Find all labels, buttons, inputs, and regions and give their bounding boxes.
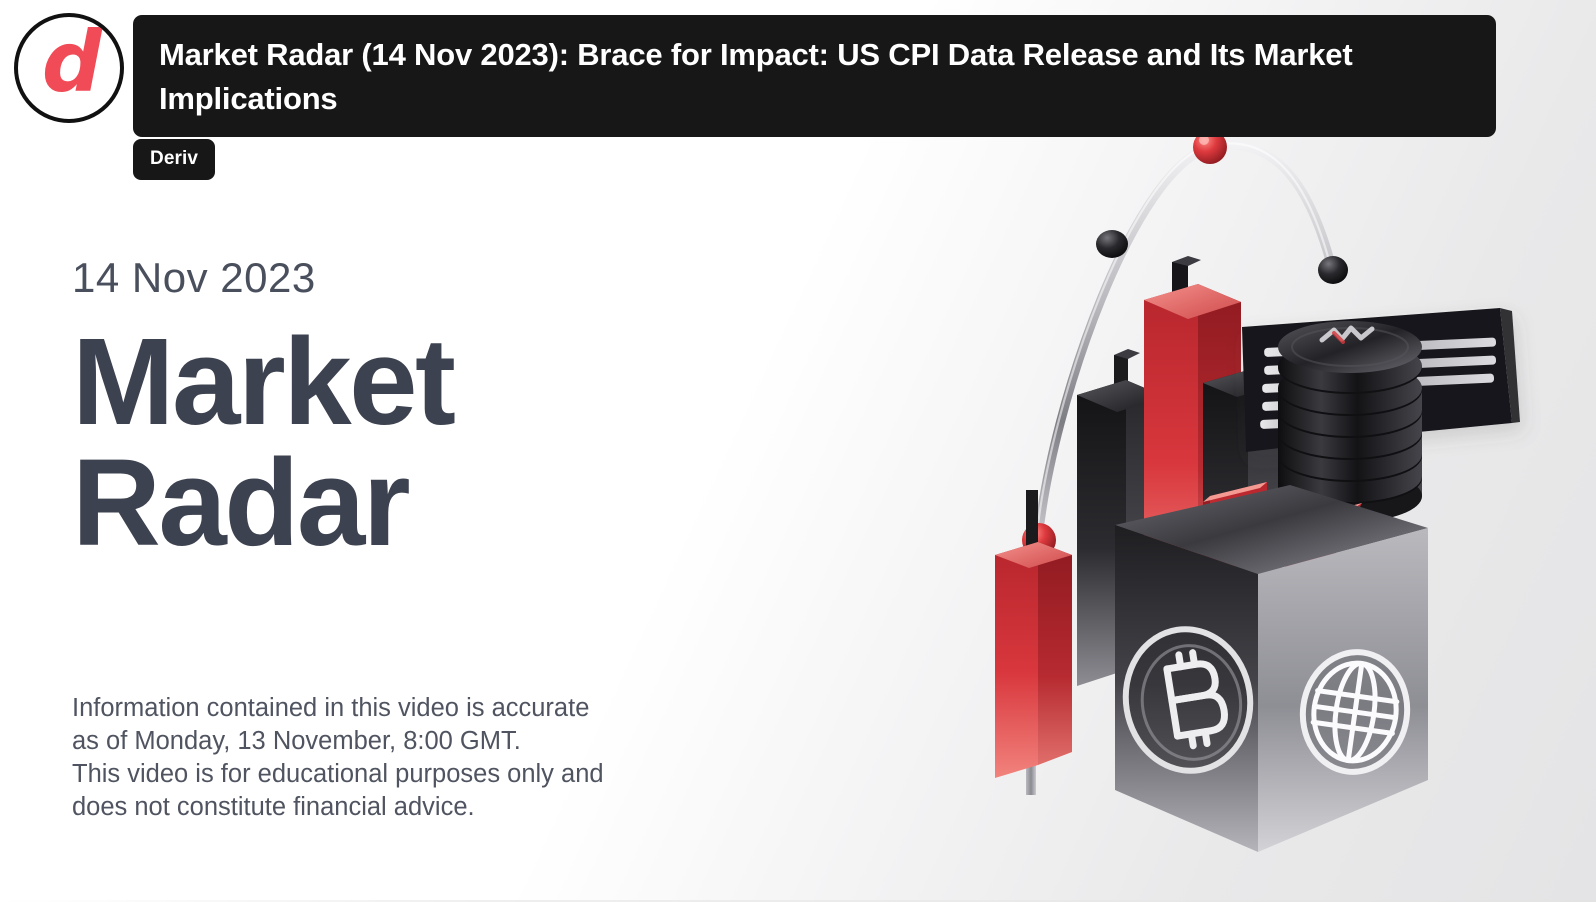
candlestick-bar-red-2 — [995, 490, 1072, 795]
channel-badge-label: Deriv — [150, 148, 198, 170]
page-title: Market Radar — [72, 323, 712, 564]
disclaimer-line-1: Information contained in this video is a… — [72, 692, 682, 725]
channel-badge[interactable]: Deriv — [133, 139, 215, 180]
video-title: Market Radar (14 Nov 2023): Brace for Im… — [159, 33, 1470, 121]
disclaimer-line-3: This video is for educational purposes o… — [72, 758, 682, 791]
deriv-d-glyph: d — [42, 20, 100, 104]
slide-canvas: 14 Nov 2023 Market Radar Information con… — [0, 0, 1596, 902]
disclaimer-line-4: does not constitute financial advice. — [72, 791, 682, 824]
header-overlay: d Market Radar (14 Nov 2023): Brace for … — [0, 0, 1596, 200]
disclaimer-line-2: as of Monday, 13 November, 8:00 GMT. — [72, 725, 682, 758]
page-title-line-1: Market — [72, 323, 712, 444]
slide-date: 14 Nov 2023 — [72, 255, 712, 301]
deriv-logo-icon[interactable]: d — [14, 13, 124, 123]
disclaimer-text: Information contained in this video is a… — [72, 692, 682, 824]
metal-cube-icon — [1115, 485, 1428, 852]
page-title-line-2: Radar — [72, 444, 712, 565]
illustration-3d-trading-graphic — [960, 100, 1560, 890]
slide-text-column: 14 Nov 2023 Market Radar — [72, 255, 712, 564]
video-title-bar: Market Radar (14 Nov 2023): Brace for Im… — [133, 15, 1496, 137]
